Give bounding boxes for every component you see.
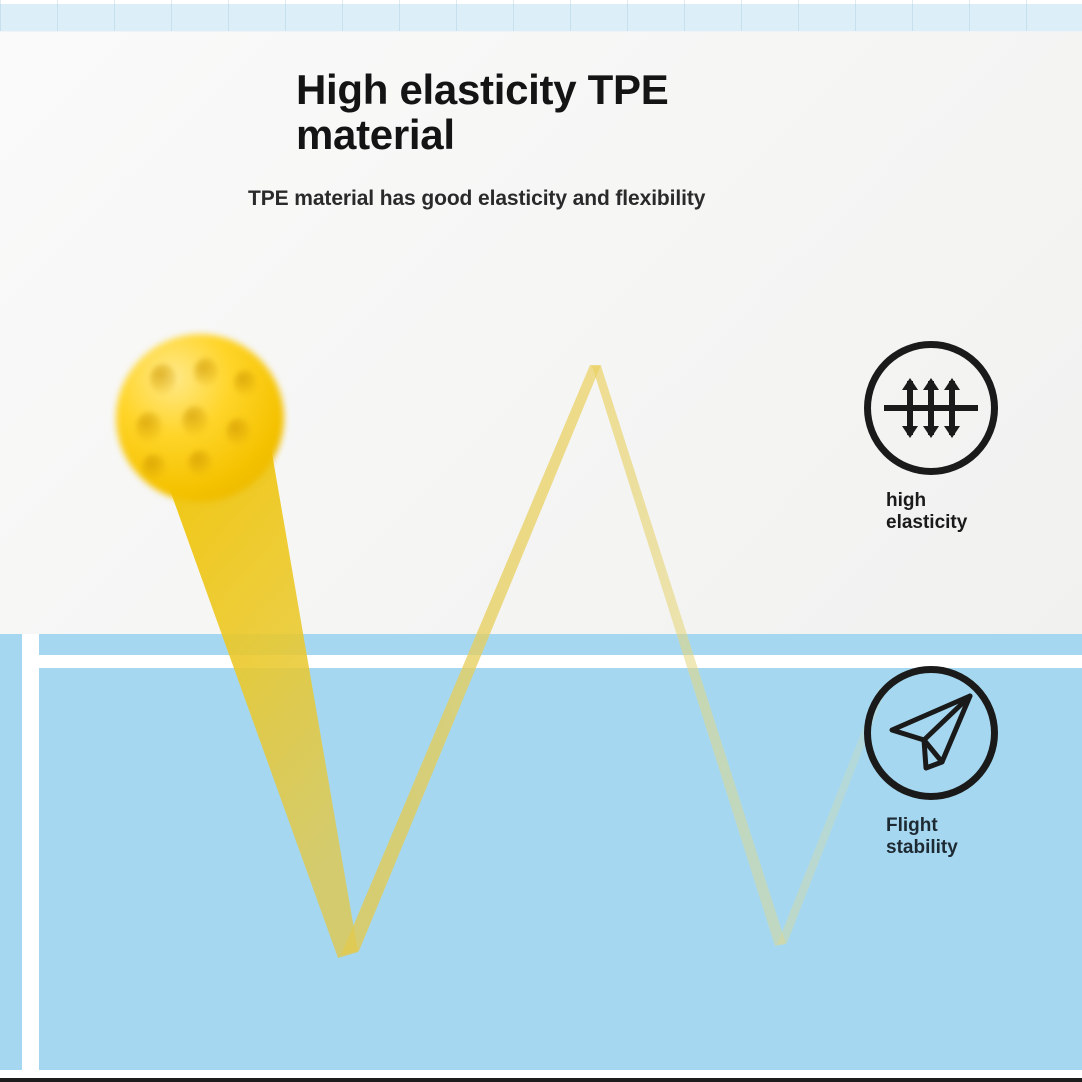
court-line-sideline [22, 634, 39, 1078]
headline-block: High elasticity TPE material TPE materia… [296, 68, 916, 211]
badge-label: Flight stability [886, 815, 998, 859]
badge-high-elasticity[interactable]: high elasticity [864, 341, 998, 534]
ball-hole [234, 370, 256, 396]
ball-hole [194, 358, 218, 386]
banner-grid-lines [0, 0, 1082, 31]
page-title: High elasticity TPE material [296, 68, 676, 157]
court-left-margin [0, 634, 22, 1078]
pickleball [108, 326, 294, 512]
badge-label: high elasticity [886, 490, 998, 534]
ball-hole [188, 450, 212, 476]
ball-hole [150, 364, 176, 394]
ball-hole [142, 454, 166, 480]
paper-plane-icon [882, 684, 980, 782]
product-infographic: High elasticity TPE material TPE materia… [0, 0, 1082, 1082]
badge-flight-stability[interactable]: Flight stability [864, 666, 998, 859]
elasticity-arrows-icon [879, 356, 983, 460]
ball-hole [136, 412, 162, 442]
page-subtitle: TPE material has good elasticity and fle… [248, 187, 916, 211]
top-banner [0, 0, 1082, 32]
ball-hole [182, 406, 208, 436]
ball-hole [226, 418, 250, 446]
badge-ring [864, 666, 998, 800]
court-line-baseline [0, 1070, 1082, 1078]
badge-ring [864, 341, 998, 475]
